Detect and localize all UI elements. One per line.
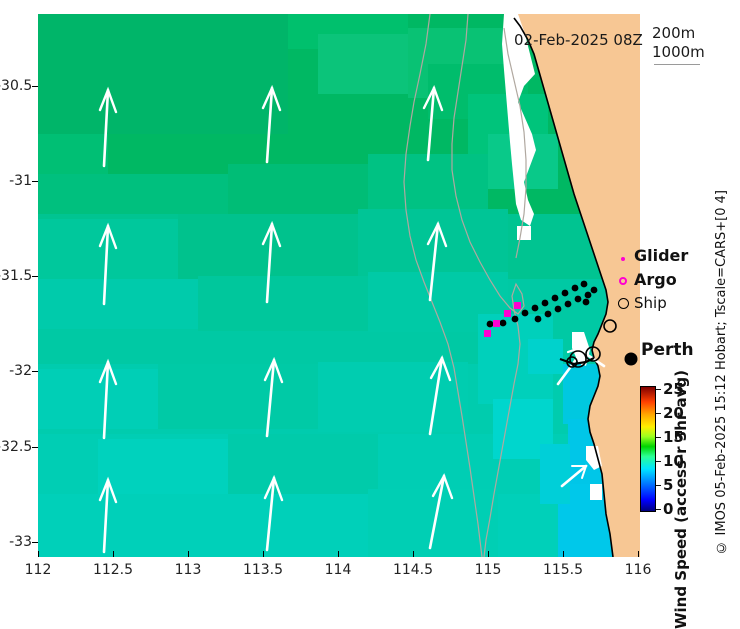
- xtick-label-112: 112: [8, 562, 68, 578]
- xtick-label-112-5: 112.5: [83, 562, 143, 578]
- legend-item-glider[interactable]: Glider: [612, 243, 722, 267]
- xtick-mark-114-5: [413, 551, 414, 557]
- colorbar-title: Wind Speed (access-r 3hr avg): [672, 370, 690, 629]
- figure-root: 02-Feb-2025 08Z 200m 1000m Glider Argo S…: [0, 0, 740, 592]
- ytick-mark-33: [32, 542, 38, 543]
- colorbar-gradient: [640, 386, 656, 512]
- xtick-label-113: 113: [158, 562, 218, 578]
- colorbar-tick-0: [656, 509, 661, 510]
- ytick-mark-30-5: [32, 86, 38, 87]
- xtick-mark-114: [338, 551, 339, 557]
- xtick-mark-113: [188, 551, 189, 557]
- xtick-mark-112: [38, 551, 39, 557]
- timestamp-label: 02-Feb-2025 08Z: [514, 31, 643, 49]
- black-circle-icon: [612, 294, 634, 313]
- xtick-mark-113-5: [263, 551, 264, 557]
- legend-label-glider: Glider: [634, 246, 688, 265]
- xtick-mark-112-5: [113, 551, 114, 557]
- ytick-label-33: -33: [0, 534, 32, 550]
- legend-item-ship[interactable]: Ship: [612, 291, 722, 315]
- xtick-mark-115: [488, 551, 489, 557]
- xtick-label-115-5: 115.5: [533, 562, 593, 578]
- xtick-label-113-5: 113.5: [233, 562, 293, 578]
- ytick-label-30-5: -30.5: [0, 78, 32, 94]
- bathymetry-1000m-label: 1000m: [652, 43, 705, 61]
- bathymetry-200m-label: 200m: [652, 24, 695, 42]
- xtick-label-114: 114: [308, 562, 368, 578]
- xtick-label-116: 116: [608, 562, 668, 578]
- xtick-label-114-5: 114.5: [383, 562, 443, 578]
- colorbar-tick-10: [656, 461, 661, 462]
- perth-city-marker[interactable]: [625, 353, 638, 366]
- xtick-label-115: 115: [458, 562, 518, 578]
- ytick-label-31-5: -31.5: [0, 268, 32, 284]
- ytick-mark-31: [32, 181, 38, 182]
- colorbar-tick-5: [656, 485, 661, 486]
- ytick-label-32: -32: [0, 363, 32, 379]
- marker-legend: Glider Argo Ship: [612, 243, 722, 315]
- ytick-mark-31-5: [32, 276, 38, 277]
- perth-city-label: Perth: [641, 340, 694, 360]
- legend-label-argo: Argo: [634, 270, 677, 289]
- xtick-mark-116: [638, 551, 639, 557]
- magenta-dot-icon: [612, 246, 634, 265]
- ytick-mark-32: [32, 371, 38, 372]
- map-svg: [38, 14, 640, 557]
- legend-label-ship: Ship: [634, 294, 667, 312]
- bathymetry-legend-line: [654, 64, 700, 65]
- legend-item-argo[interactable]: Argo: [612, 267, 722, 291]
- colorbar-tick-15: [656, 437, 661, 438]
- colorbar-tick-25: [656, 389, 661, 390]
- magenta-circle-icon: [612, 270, 634, 289]
- xtick-mark-115-5: [563, 551, 564, 557]
- colorbar-tick-20: [656, 413, 661, 414]
- ytick-label-31: -31: [0, 173, 32, 189]
- copyright-notice: © IMOS 05-Feb-2025 15:12 Hobart; Tscale=…: [714, 190, 729, 555]
- ytick-mark-32-5: [32, 447, 38, 448]
- ytick-label-32-5: -32.5: [0, 439, 32, 455]
- map-plot-area[interactable]: [38, 14, 640, 557]
